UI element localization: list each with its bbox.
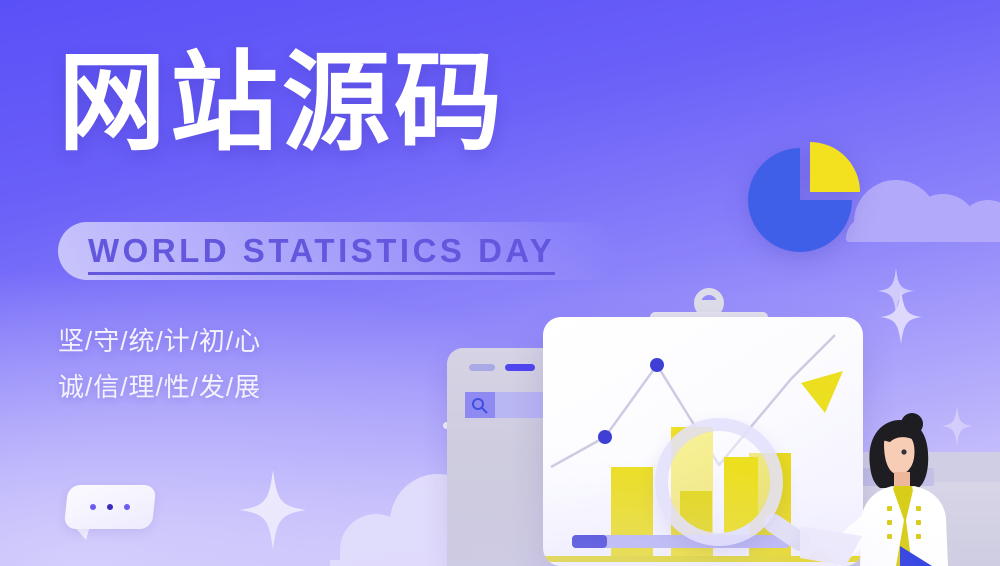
sparkle-icon-top — [878, 268, 914, 314]
promo-banner: 网站源码 WORLD STATISTICS DAY 坚/守/统/计/初/心 诚/… — [0, 0, 1000, 566]
female-analyst-illustration — [800, 408, 1000, 566]
chat-bubble-icon — [66, 485, 154, 529]
browser-tab-1 — [469, 364, 495, 371]
tagline: 坚/守/统/计/初/心 诚/信/理/性/发/展 — [58, 318, 261, 410]
cloud-top-right — [846, 170, 1000, 242]
tagline-line-2: 诚/信/理/性/发/展 — [58, 364, 261, 410]
browser-tab-2 — [505, 364, 535, 371]
sparkle-icon-left — [240, 470, 306, 550]
subtitle: WORLD STATISTICS DAY — [88, 232, 555, 275]
progress-bar-fill — [572, 535, 607, 548]
magnifying-glass-icon — [655, 418, 783, 546]
tagline-line-1: 坚/守/统/计/初/心 — [58, 318, 261, 364]
page-title: 网站源码 — [58, 48, 506, 158]
pie-chart — [748, 140, 866, 258]
search-icon — [471, 397, 488, 414]
